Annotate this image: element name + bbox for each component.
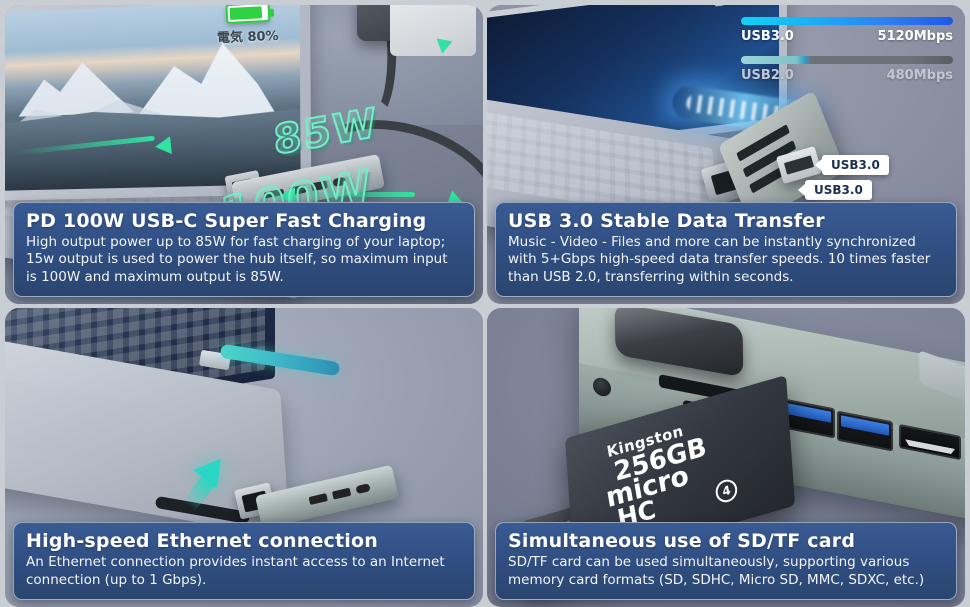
usb3-speed-bar — [741, 17, 953, 25]
panel-title: USB 3.0 Stable Data Transfer — [508, 210, 944, 232]
caption-usb3-data: USB 3.0 Stable Data Transfer Music - Vid… — [495, 202, 957, 297]
caption-sd-tf-card: Simultaneous use of SD/TF card SD/TF car… — [495, 522, 957, 600]
panel-sd-tf-card: Kingston 256GB micro HC 4 Simultaneous u… — [487, 308, 965, 607]
feature-panel-grid: 電気 80% 85W 100W PD 100W USB-C Sup — [0, 0, 970, 600]
callout-usb3-bottom: USB3.0 — [805, 180, 872, 200]
panel-usb3-data: USB3.0 USB3.0 USB3.0 5120Mbps USB2.0 480… — [487, 5, 965, 304]
menu-bar-icons — [715, 5, 769, 7]
usb3-bar-value: 5120Mbps — [878, 29, 953, 44]
power-flow-arrow — [154, 136, 172, 156]
panel-body: SD/TF card can be used simultaneously, s… — [508, 554, 944, 590]
speed-comparison-chart: USB3.0 5120Mbps USB2.0 480Mbps — [741, 17, 953, 95]
card-notch — [761, 375, 788, 409]
panel-pd-charging: 電気 80% 85W 100W PD 100W USB-C Sup — [5, 5, 483, 304]
battery-icon — [225, 5, 270, 24]
laptop-trackpad — [5, 378, 145, 473]
card-speed-class-badge: 4 — [714, 477, 739, 505]
hub-usb-port-2 — [332, 488, 351, 500]
usb2-speed-bar — [741, 56, 953, 64]
panel-ethernet: 1Gbps High-speed Ethernet connection An … — [5, 308, 483, 607]
panel-body: An Ethernet connection provides instant … — [26, 554, 462, 590]
wall-outlet — [390, 5, 476, 56]
menubar-icon — [715, 5, 724, 7]
caption-ethernet: High-speed Ethernet connection An Ethern… — [13, 522, 475, 600]
usb3-bar-name: USB3.0 — [741, 29, 794, 44]
panel-body: Music - Video - Files and more can be in… — [508, 234, 944, 287]
usb2-speed-row: USB2.0 480Mbps — [741, 68, 953, 83]
usb2-bar-name: USB2.0 — [741, 68, 794, 83]
panel-body: High output power up to 85W for fast cha… — [26, 234, 462, 287]
battery-label: 電気 80% — [217, 25, 279, 46]
callout-usb3-top: USB3.0 — [822, 155, 889, 175]
caption-pd-charging: PD 100W USB-C Super Fast Charging High o… — [13, 202, 475, 297]
panel-title: PD 100W USB-C Super Fast Charging — [26, 210, 462, 232]
battery-indicator: 電気 80% — [217, 5, 279, 45]
hub-usb-c-port — [355, 483, 370, 494]
usb-c-connector-arm — [918, 350, 965, 416]
panel-title: Simultaneous use of SD/TF card — [508, 530, 944, 552]
panel-title: High-speed Ethernet connection — [26, 530, 462, 552]
usb3-speed-row: USB3.0 5120Mbps — [741, 29, 953, 44]
hub-usb-port-1 — [309, 493, 328, 505]
usb2-bar-value: 480Mbps — [887, 68, 953, 83]
